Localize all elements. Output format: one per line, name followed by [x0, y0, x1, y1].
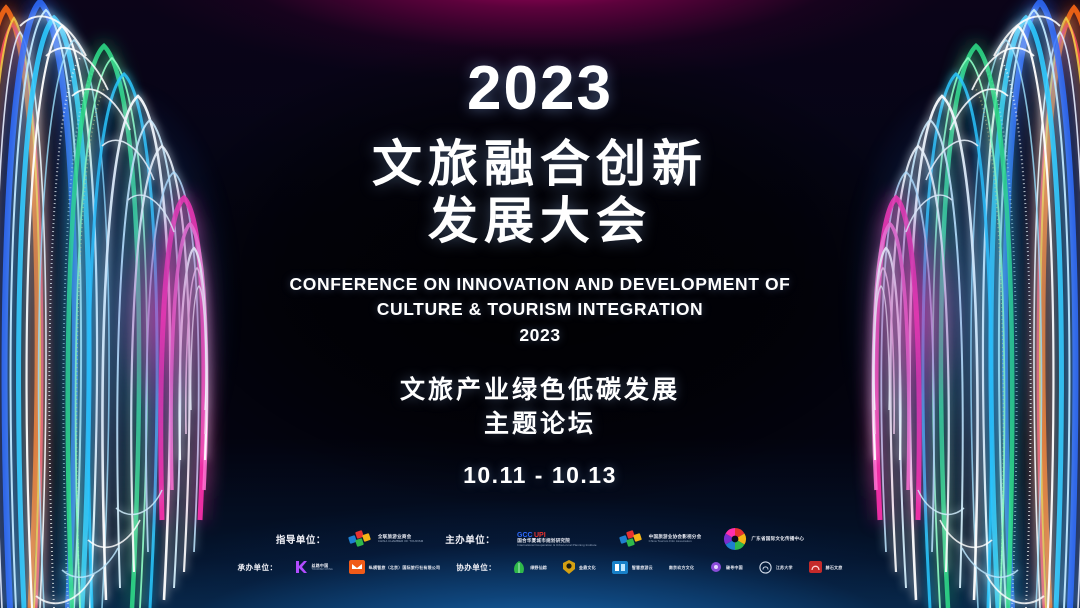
- sponsor-logo-text: 中国旅游业协会影视分会 China Tourism Film Associati…: [649, 534, 702, 543]
- poster-content: 2023 文旅融合创新 发展大会 CONFERENCE ON INNOVATIO…: [0, 0, 1080, 608]
- sponsor-label-guiding: 指导单位：: [276, 532, 326, 546]
- poster-title-chinese: 文旅融合创新 发展大会: [372, 136, 708, 250]
- sponsor-logo-text: 丝路中国 TOURISM CHINA: [312, 563, 333, 571]
- sponsor-label-coorganizer: 协办单位：: [456, 562, 496, 573]
- sponsor-logo-text: 南京玖方文化: [669, 565, 694, 570]
- sponsor-name-cn: 绿野仙踪: [530, 565, 547, 570]
- sponsor-name-cn: 赫石文旅: [826, 565, 843, 570]
- sponsor-name-cn: 纵横智旅（北京）国际旅行社有限公司: [369, 565, 440, 570]
- sponsor-name-cn: 碳寻中国: [726, 565, 743, 570]
- sponsor-logo-text: 绿野仙踪: [530, 565, 547, 570]
- conference-poster: 2023 文旅融合创新 发展大会 CONFERENCE ON INNOVATIO…: [0, 0, 1080, 608]
- sponsor-logo-item: 绿野仙踪: [512, 560, 547, 574]
- sponsor-name-en: China Tourism Film Association: [649, 540, 702, 544]
- purple-k-icon: [294, 560, 308, 574]
- title-en-line-3: 2023: [290, 323, 791, 348]
- sponsor-logo-text: 纵横智旅（北京）国际旅行社有限公司: [369, 565, 440, 570]
- sponsor-logo-item: 赫石文旅: [809, 561, 843, 573]
- sponsor-row-2: 承办单位： 丝路中国 TOURISM CHINA 纵横智旅（北京）国际旅行社有限…: [238, 560, 843, 574]
- poster-forum-theme: 文旅产业绿色低碳发展 主题论坛: [400, 374, 680, 442]
- poster-year: 2023: [467, 58, 613, 120]
- gold-crest-icon: [563, 560, 575, 574]
- green-leaf-icon: [512, 560, 526, 574]
- title-en-line-2: CULTURE & TOURISM INTEGRATION: [290, 297, 791, 322]
- orange-crown-icon: [349, 560, 365, 574]
- sponsor-logo-text: 赫石文旅: [826, 565, 843, 570]
- sponsor-logo-item: 中国旅游业协会影视分会 China Tourism Film Associati…: [619, 529, 702, 549]
- squares-colored-icon: [348, 529, 374, 549]
- sponsor-logo-item: 江苏大学: [759, 561, 793, 574]
- sponsor-logo-item: 智慧旅游云: [612, 561, 653, 574]
- poster-dates: 10.11 - 10.13: [463, 462, 617, 489]
- sponsor-name-cn: 智慧旅游云: [632, 565, 653, 570]
- forum-line-1: 文旅产业绿色低碳发展: [400, 374, 680, 408]
- sponsor-logo-text: GCC UPI 国合华夏城市规划研究院 International Cooper…: [517, 530, 596, 547]
- violet-dot-icon: [710, 561, 722, 573]
- sponsor-name-en: TOURISM CHINA: [312, 568, 333, 571]
- sponsor-name-cn: 广东省国际文化传播中心: [751, 536, 804, 542]
- sponsor-logo-item: 南京玖方文化: [669, 565, 694, 570]
- sponsor-logo-item: 纵横智旅（北京）国际旅行社有限公司: [349, 560, 440, 574]
- sponsor-name-cn: 江苏大学: [776, 565, 793, 570]
- circle-seal-icon: [759, 561, 772, 574]
- sponsor-name-cn: 南京玖方文化: [669, 565, 694, 570]
- sponsor-logo-text: 江苏大学: [776, 565, 793, 570]
- sponsor-logo-item: 碳寻中国: [710, 561, 743, 573]
- sponsor-logo-item: GCC UPI 国合华夏城市规划研究院 International Cooper…: [517, 530, 596, 547]
- sponsor-logo-item: 全联旅游业商会 CHINA CHAMBER OF TOURISM: [348, 529, 423, 549]
- pinwheel-icon: [723, 527, 747, 551]
- red-badge-icon: [809, 561, 822, 573]
- sponsor-logo-item: 金鼎文化: [563, 560, 596, 574]
- title-cn-line-2: 发展大会: [372, 193, 708, 250]
- title-en-line-1: CONFERENCE ON INNOVATION AND DEVELOPMENT…: [290, 272, 791, 297]
- sponsor-label-organizer: 承办单位：: [238, 562, 278, 573]
- sponsor-label-host: 主办单位：: [445, 532, 495, 546]
- sponsor-row-1: 指导单位： 全联旅游业商会 CHINA CHAMBER OF TOURISM 主…: [276, 527, 804, 551]
- sponsor-name-en: CHINA CHAMBER OF TOURISM: [378, 540, 423, 544]
- poster-title-english: CONFERENCE ON INNOVATION AND DEVELOPMENT…: [290, 272, 791, 348]
- sponsor-logo-text: 碳寻中国: [726, 565, 743, 570]
- blue-tile-icon: [612, 561, 628, 574]
- title-cn-line-1: 文旅融合创新: [372, 136, 708, 192]
- squares-colored-icon: [619, 529, 645, 549]
- sponsor-logo-text: 智慧旅游云: [632, 565, 653, 570]
- sponsor-logo-item: 丝路中国 TOURISM CHINA: [294, 560, 333, 574]
- forum-line-2: 主题论坛: [400, 408, 680, 442]
- sponsor-logo-text: 金鼎文化: [579, 565, 596, 570]
- sponsor-logo-text: 全联旅游业商会 CHINA CHAMBER OF TOURISM: [378, 534, 423, 543]
- sponsor-logo-text: 广东省国际文化传播中心: [751, 536, 804, 542]
- sponsor-logo-item: 广东省国际文化传播中心: [723, 527, 804, 551]
- sponsor-logo-section: 指导单位： 全联旅游业商会 CHINA CHAMBER OF TOURISM 主…: [0, 527, 1080, 574]
- sponsor-name-en: International Cooperation & Urban-rural …: [517, 544, 596, 548]
- sponsor-name-cn: 金鼎文化: [579, 565, 596, 570]
